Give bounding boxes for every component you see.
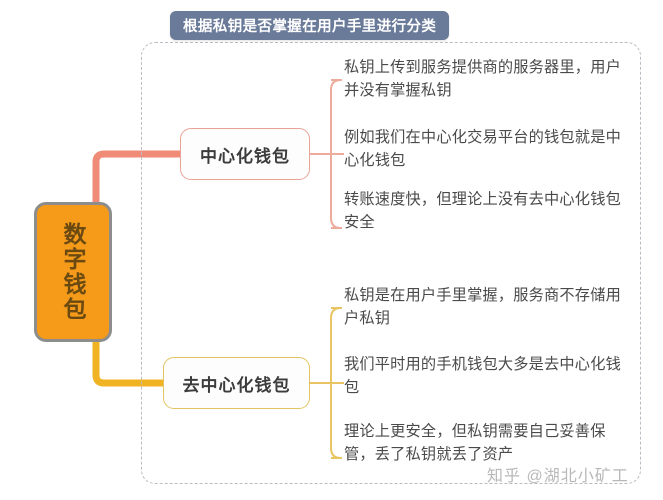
classification-title-text: 根据私钥是否掌握在用户手里进行分类 (183, 15, 436, 36)
root-node-digital-wallet[interactable]: 数字钱包 (34, 202, 112, 342)
leaf-text-centralized-3: 转账速度快，但理论上没有去中心化钱包安全 (344, 188, 622, 234)
branch-node-decentralized-label: 去中心化钱包 (183, 371, 291, 396)
leaf-text-decentralized-2: 我们平时用的手机钱包大多是去中心化钱包 (344, 353, 622, 399)
watermark: 知乎 @湖北小矿工 (487, 462, 629, 486)
leaf-text-centralized-2: 例如我们在中心化交易平台的钱包就是中心化钱包 (344, 126, 622, 172)
branch-node-centralized-label: 中心化钱包 (200, 142, 290, 167)
leaf-text-decentralized-1: 私钥是在用户手里掌握，服务商不存储用户私钥 (344, 284, 622, 330)
branch-node-centralized-wallet[interactable]: 中心化钱包 (180, 128, 310, 180)
leaf-text-centralized-1: 私钥上传到服务提供商的服务器里，用户并没有掌握私钥 (344, 56, 622, 102)
classification-group-box (141, 42, 641, 484)
leaf-text-decentralized-3: 理论上更安全，但私钥需要自己妥善保管，丢了私钥就丢了资产 (344, 420, 622, 466)
classification-title-badge: 根据私钥是否掌握在用户手里进行分类 (170, 11, 449, 40)
root-node-label: 数字钱包 (59, 222, 87, 322)
branch-node-decentralized-wallet[interactable]: 去中心化钱包 (163, 357, 310, 409)
